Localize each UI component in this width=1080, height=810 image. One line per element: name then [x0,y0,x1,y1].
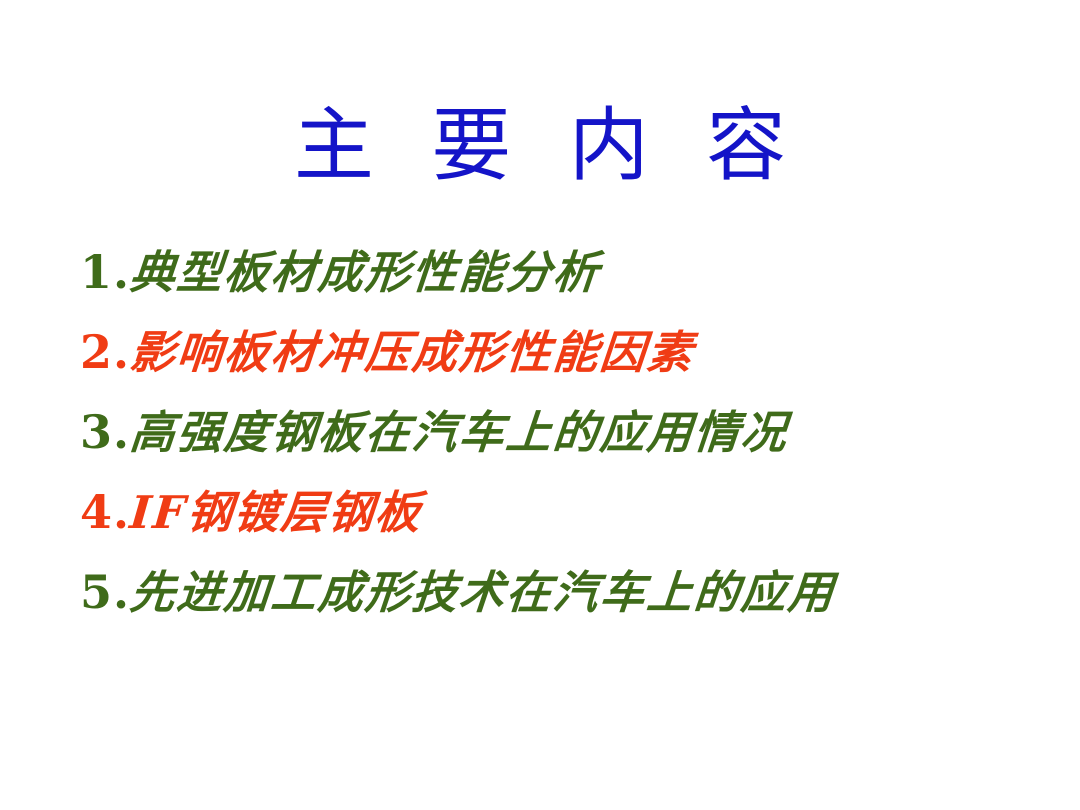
list-item-number: 3. [80,392,130,472]
list-item-label: 典型板材成形性能分析 [127,233,604,313]
list-item-label: 高强度钢板在汽车上的应用情况 [127,393,792,473]
list-item-number: 4. [80,472,130,552]
list-item[interactable]: 5.先进加工成形技术在汽车上的应用 [80,552,1040,632]
list-item-label: 影响板材冲压成形性能因素 [127,313,698,393]
list-item[interactable]: 2.影响板材冲压成形性能因素 [80,312,1040,392]
list-item-label: IF钢镀层钢板 [127,473,426,553]
list-item[interactable]: 4.IF钢镀层钢板 [80,472,1040,552]
page-title: 主 要 内 容 [0,98,1080,194]
table-of-contents-list: 1.典型板材成形性能分析 2.影响板材冲压成形性能因素 3.高强度钢板在汽车上的… [80,232,1040,632]
list-item-label: 先进加工成形技术在汽车上的应用 [127,553,839,633]
presentation-slide: 主 要 内 容 1.典型板材成形性能分析 2.影响板材冲压成形性能因素 3.高强… [0,0,1080,810]
list-item[interactable]: 3.高强度钢板在汽车上的应用情况 [80,392,1040,472]
list-item-number: 1. [80,232,130,312]
list-item-number: 5. [80,552,130,632]
list-item[interactable]: 1.典型板材成形性能分析 [80,232,1040,312]
list-item-number: 2. [80,312,130,392]
